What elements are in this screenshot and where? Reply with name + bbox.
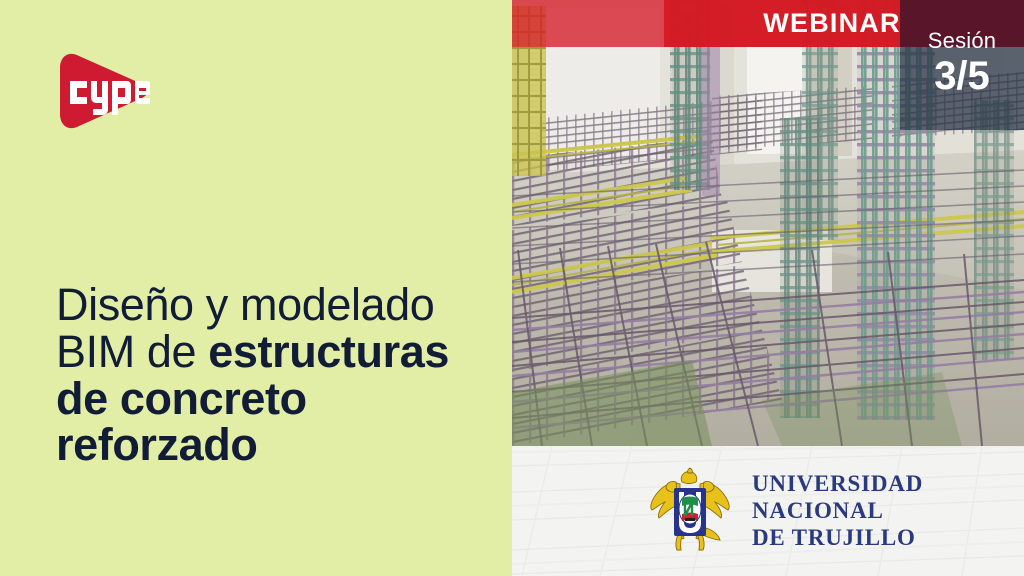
session-number: 3/5 xyxy=(900,54,1024,98)
university-name: UNIVERSIDAD NACIONAL DE TRUJILLO xyxy=(752,470,923,551)
university-logo-strip: UNIVERSIDAD NACIONAL DE TRUJILLO xyxy=(512,446,1024,576)
page-title: Diseño y modelado BIM de estructuras de … xyxy=(56,282,486,469)
university-name-line-3: DE TRUJILLO xyxy=(752,524,923,551)
cype-logo-icon xyxy=(52,50,150,132)
title-line-2-regular: BIM de xyxy=(56,326,208,377)
cype-logo[interactable] xyxy=(52,50,150,132)
webinar-poster: Diseño y modelado BIM de estructuras de … xyxy=(0,0,1024,576)
left-content-panel: Diseño y modelado BIM de estructuras de … xyxy=(0,0,512,576)
university-logo: UNIVERSIDAD NACIONAL DE TRUJILLO xyxy=(642,462,923,558)
university-name-line-1: UNIVERSIDAD xyxy=(752,470,923,497)
university-name-line-2: NACIONAL xyxy=(752,497,923,524)
title-line-3-bold: de concreto xyxy=(56,373,307,424)
session-word: Sesión xyxy=(900,28,1024,54)
right-image-panel: WEBINAR Sesión 3/5 xyxy=(512,0,1024,576)
title-line-4: reforzado xyxy=(56,422,486,469)
title-line-4-bold: reforzado xyxy=(56,419,257,470)
unt-crest-icon xyxy=(642,462,738,558)
session-badge: Sesión 3/5 xyxy=(900,28,1024,98)
title-line-1: Diseño y modelado xyxy=(56,282,486,329)
title-line-3: de concreto xyxy=(56,376,486,423)
title-line-2: BIM de estructuras xyxy=(56,329,486,376)
title-line-2-bold: estructuras xyxy=(208,326,449,377)
